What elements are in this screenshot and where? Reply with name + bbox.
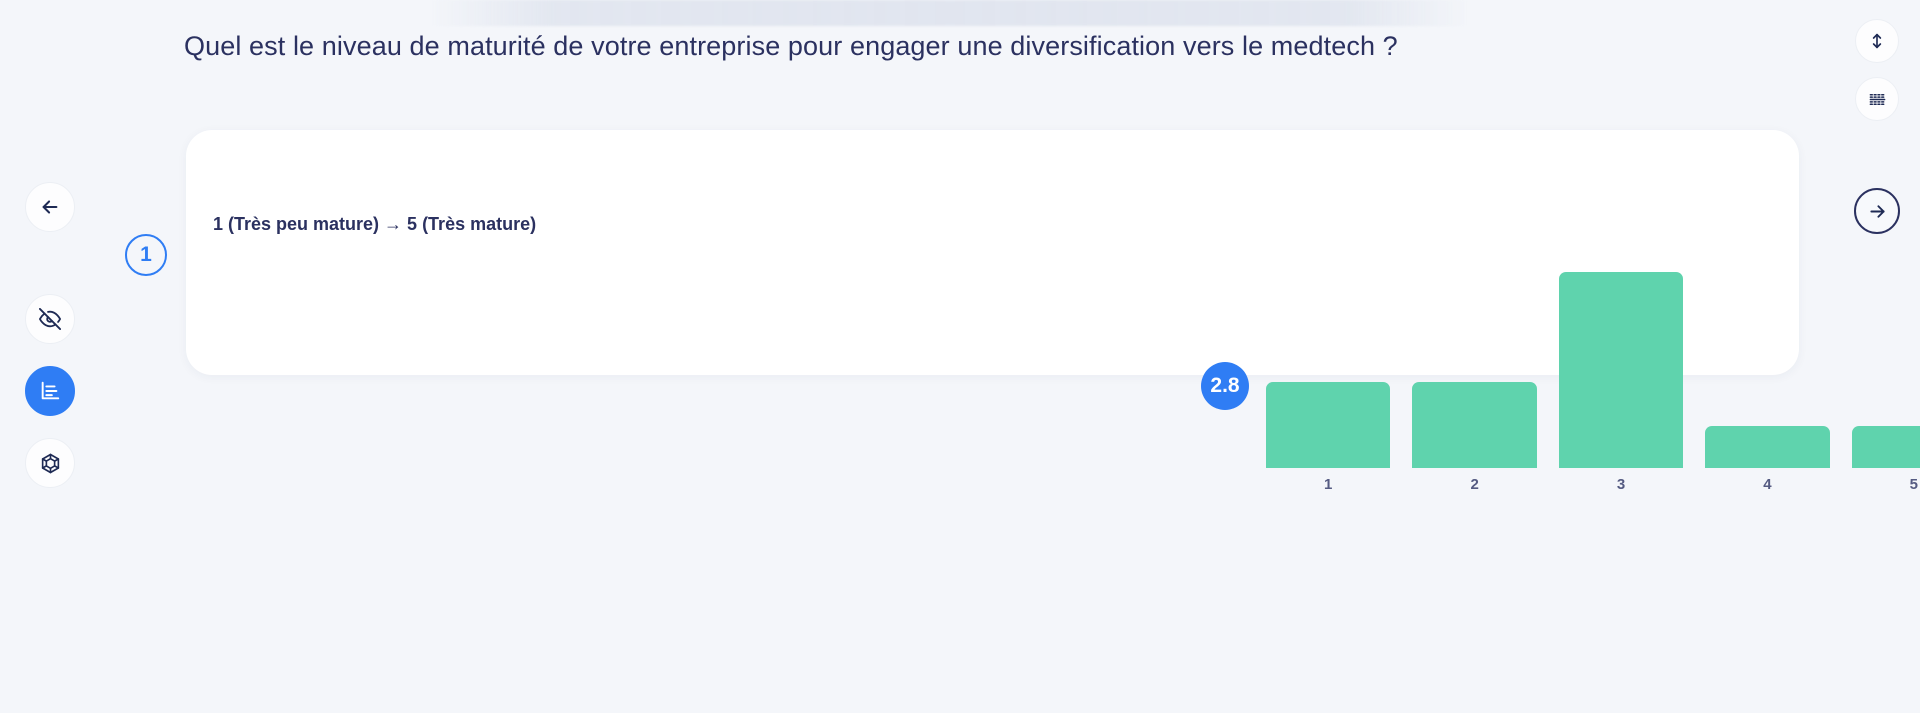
bar-column[interactable]: 2 [1412,268,1536,468]
arrow-right-icon [1867,201,1888,222]
sidebar-item-hide[interactable] [25,294,75,344]
sidebar-item-charts[interactable] [25,366,75,416]
eye-off-icon [39,308,61,330]
sidebar-rail [21,182,79,488]
bar-chart: 1 2 3 4 5 [1244,260,1920,505]
sidebar-item-network[interactable] [25,438,75,488]
bar-3[interactable] [1559,272,1683,468]
bar-column[interactable]: 1 [1266,268,1390,468]
page-title: Quel est le niveau de maturité de votre … [184,31,1804,62]
question-number-badge: 1 [125,234,167,276]
bar-label-5: 5 [1852,476,1920,493]
bar-chart-icon [39,380,61,402]
bar-column[interactable]: 5 [1852,268,1920,468]
bar-1[interactable] [1266,382,1390,468]
bar-column[interactable]: 3 [1559,268,1683,468]
resize-height-button[interactable] [1855,19,1899,63]
average-score-badge: 2.8 [1201,362,1249,410]
table-view-button[interactable] [1855,77,1899,121]
top-gradient-band [430,0,1470,26]
question-scale-label: 1 (Très peu mature) → 5 (Très mature) [213,214,536,235]
bar-label-3: 3 [1559,476,1683,493]
bar-label-1: 1 [1266,476,1390,493]
bar-chart-bars: 1 2 3 4 5 [1266,268,1920,468]
bar-4[interactable] [1705,426,1829,468]
next-question-button[interactable] [1854,188,1900,234]
hexagon-network-icon [39,452,62,475]
sidebar-item-back[interactable] [25,182,75,232]
bar-label-4: 4 [1705,476,1829,493]
top-right-controls [1855,19,1899,121]
bar-label-2: 2 [1412,476,1536,493]
table-grid-icon [1868,90,1887,109]
vertical-resize-icon [1868,32,1886,50]
bar-column[interactable]: 4 [1705,268,1829,468]
bar-5[interactable] [1852,426,1920,468]
bar-2[interactable] [1412,382,1536,468]
arrow-left-icon [39,196,61,218]
question-card: 1 (Très peu mature) → 5 (Très mature) 2.… [186,130,1799,375]
